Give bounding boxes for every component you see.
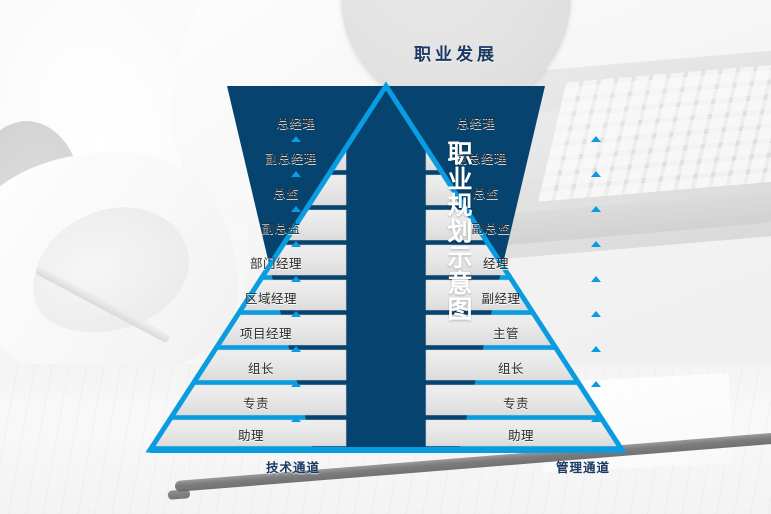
left-level-8-label: 专责 xyxy=(146,393,366,412)
left-level-9-label: 助理 xyxy=(136,425,366,444)
right-channel-label: 管理通道 xyxy=(556,457,610,476)
right-up-arrow-icons xyxy=(591,136,601,422)
right-level-0-label: 总经理 xyxy=(406,113,546,132)
right-level-6-label: 主管 xyxy=(406,323,606,342)
left-level-7-label: 组长 xyxy=(156,358,366,377)
right-level-7-label: 组长 xyxy=(406,358,616,377)
right-level-1-label: 副总经理 xyxy=(406,148,556,167)
left-level-2-label: 总监 xyxy=(206,183,366,202)
left-level-6-label: 项目经理 xyxy=(166,323,366,342)
left-channel-label: 技术通道 xyxy=(266,457,320,476)
left-level-1-label: 副总经理 xyxy=(216,148,366,167)
career-pyramid-infographic: 职业发展 xyxy=(0,0,771,514)
left-level-3-label: 副总监 xyxy=(196,218,366,237)
pyramid-graphic: 总经理 副总经理 总监 副总监 部门经理 区域经理 项目经理 组长 专责 助理 … xyxy=(0,0,771,514)
pyramid-svg xyxy=(0,0,771,514)
left-level-4-label: 部门经理 xyxy=(186,253,366,272)
center-vertical-title: 职业规划示意图 xyxy=(430,140,472,322)
left-level-0-label: 总经理 xyxy=(226,113,366,132)
right-level-9-label: 助理 xyxy=(406,425,636,444)
left-level-5-label: 区域经理 xyxy=(176,288,366,307)
right-level-8-label: 专责 xyxy=(406,393,626,412)
